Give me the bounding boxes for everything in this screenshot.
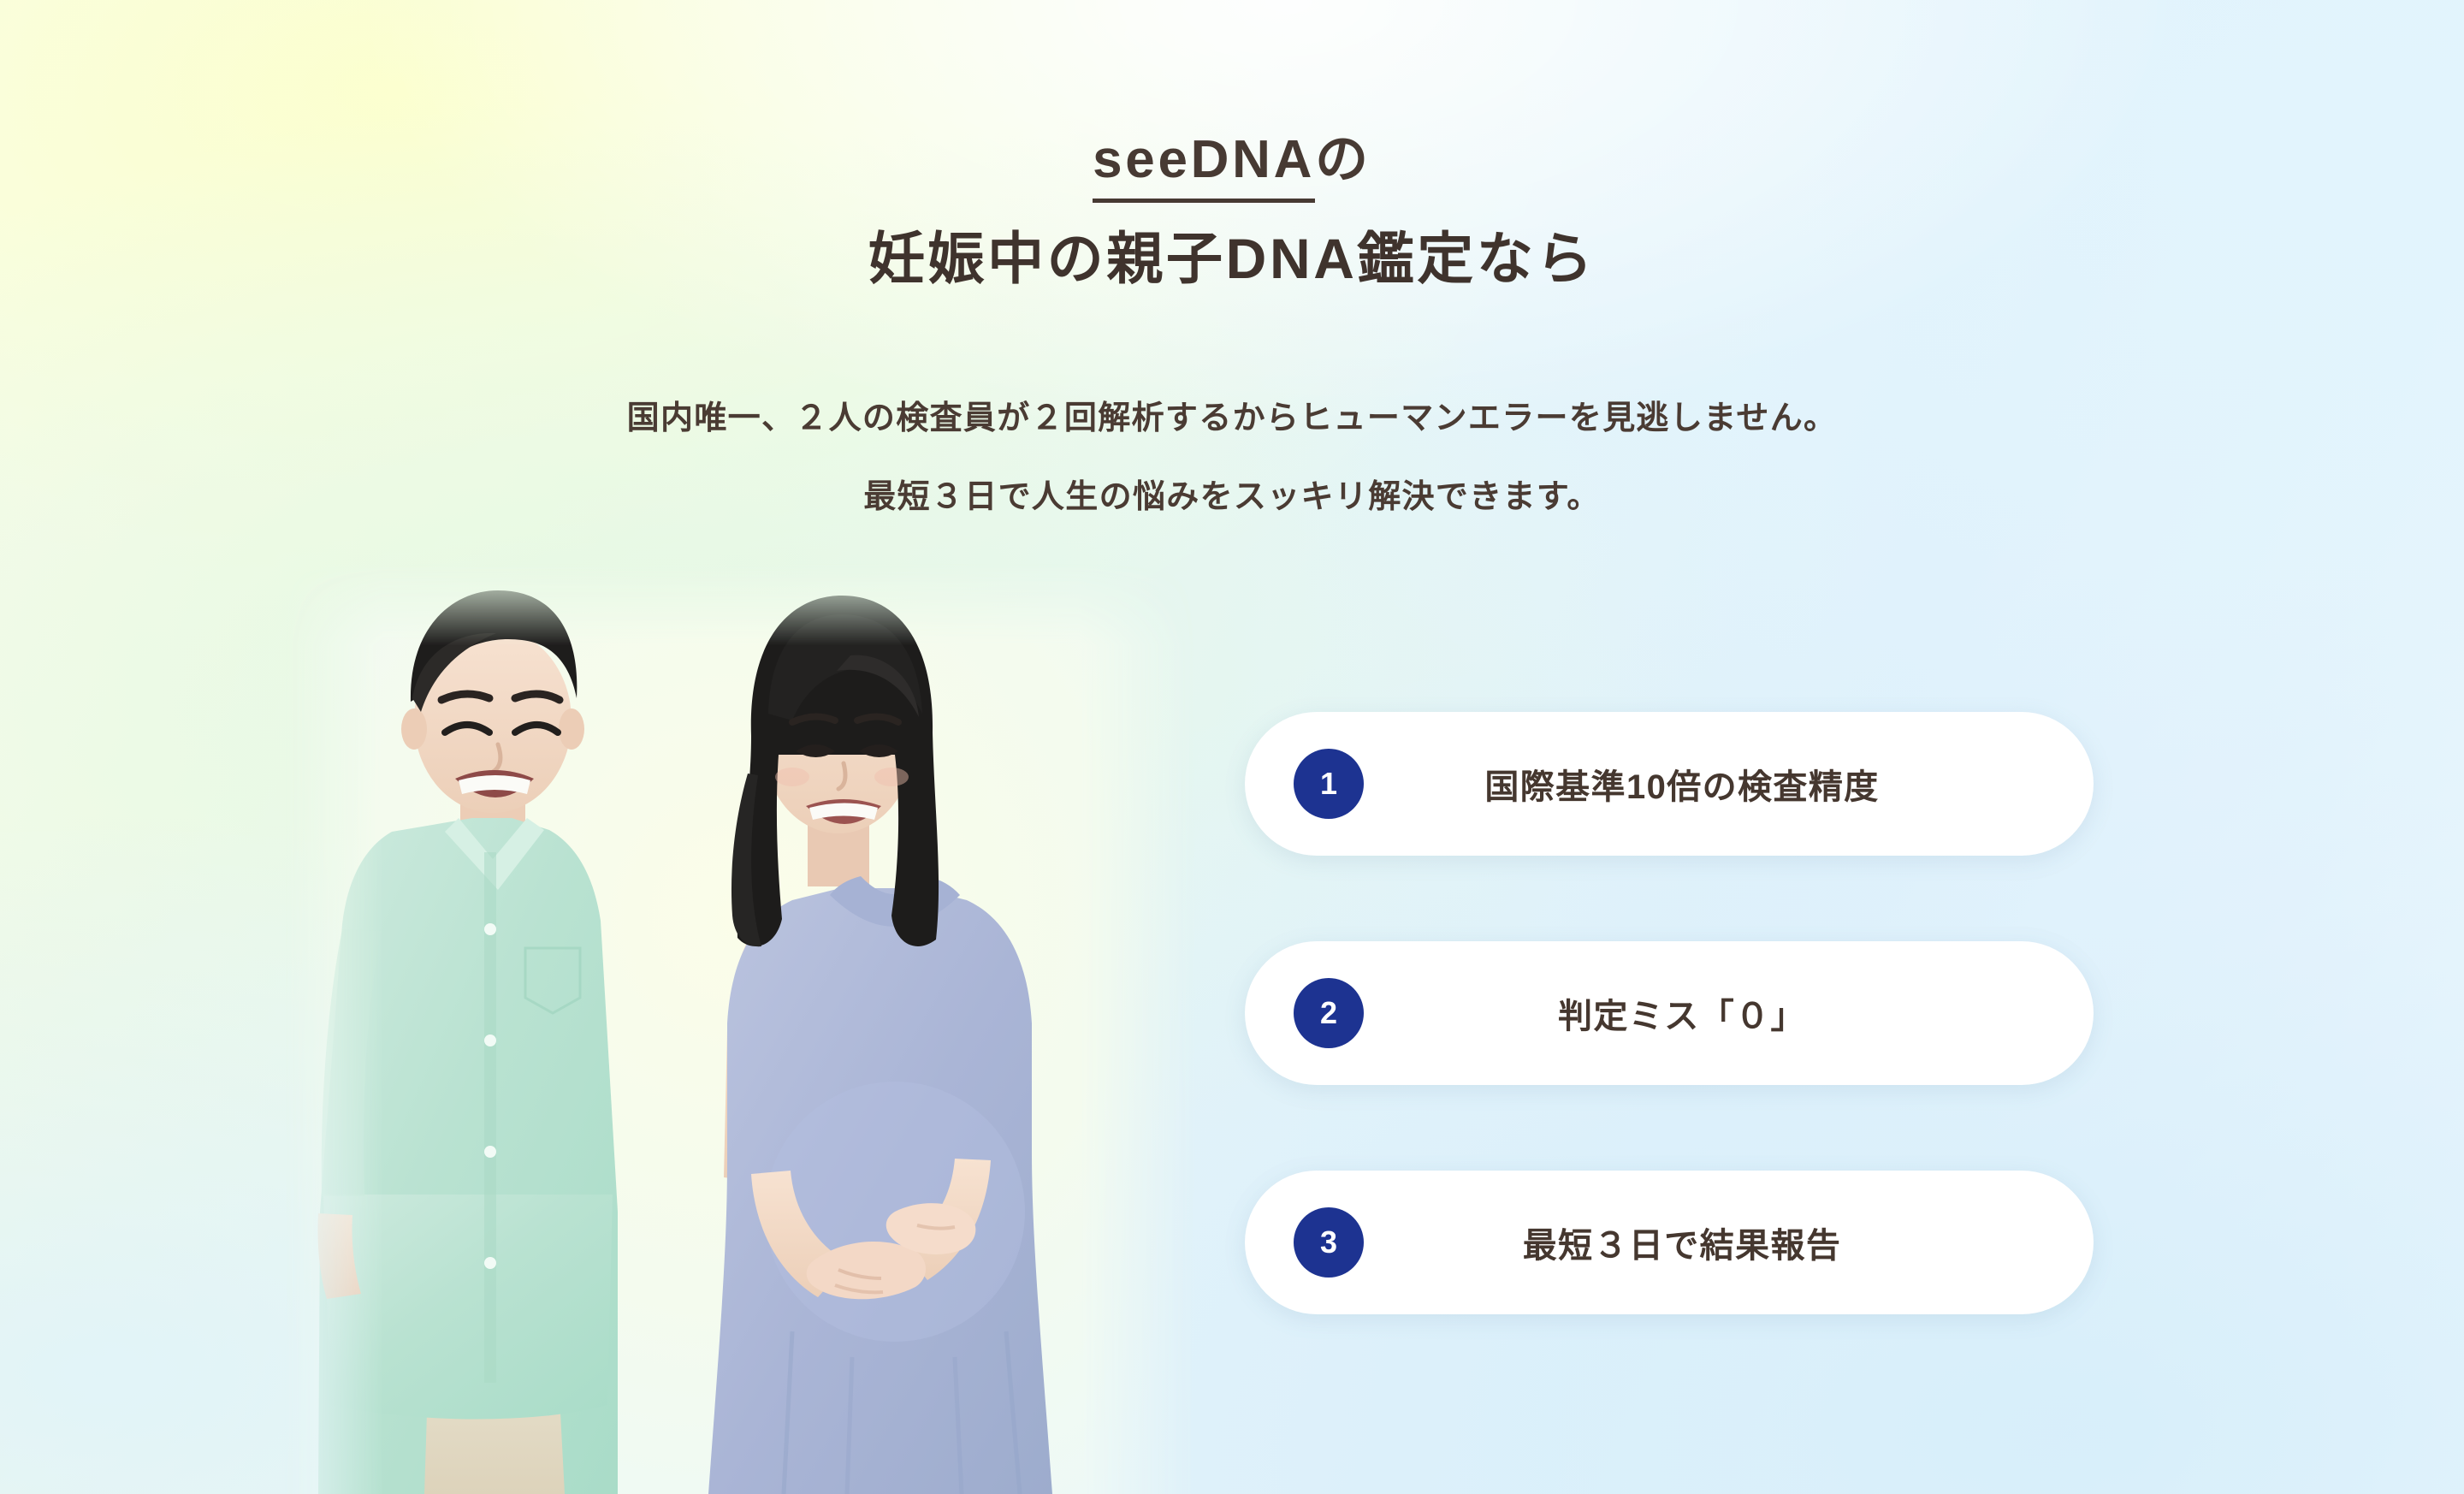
lead-line-2: 最短３日で人生の悩みをスッキリ解決できます。 (0, 481, 2464, 513)
hero-section: seeDNAの 妊娠中の親子DNA鑑定なら 国内唯一、２人の検査員が２回解析する… (0, 0, 2464, 1494)
feature-list: 1 国際基準10倍の検査精度 2 判定ミス「０」 3 最短３日で結果報告 (1245, 712, 2094, 1314)
feature-card-2[interactable]: 2 判定ミス「０」 (1245, 941, 2094, 1085)
lead-line-1: 国内唯一、２人の検査員が２回解析するからヒューマンエラーを見逃しません。 (0, 402, 2464, 435)
lead-paragraph: 国内唯一、２人の検査員が２回解析するからヒューマンエラーを見逃しません。 最短３… (0, 402, 2464, 513)
feature-number-badge-3: 3 (1294, 1207, 1364, 1278)
feature-card-3[interactable]: 3 最短３日で結果報告 (1245, 1171, 2094, 1314)
headline-block: seeDNAの 妊娠中の親子DNA鑑定なら (0, 128, 2464, 293)
feature-label-3: 最短３日で結果報告 (1245, 1218, 2094, 1267)
brand-suffix: の (1315, 130, 1371, 189)
headline-line-1: seeDNAの (0, 128, 2464, 191)
feature-card-1[interactable]: 1 国際基準10倍の検査精度 (1245, 712, 2094, 856)
headline-line-2: 妊娠中の親子DNA鑑定なら (0, 225, 2464, 293)
feature-number-badge-1: 1 (1294, 749, 1364, 819)
feature-label-1: 国際基準10倍の検査精度 (1245, 759, 2094, 809)
feature-number-badge-2: 2 (1294, 978, 1364, 1048)
brand-name: seeDNA (1093, 130, 1315, 203)
feature-label-2: 判定ミス「０」 (1245, 988, 2094, 1038)
couple-photo (282, 561, 1198, 1494)
